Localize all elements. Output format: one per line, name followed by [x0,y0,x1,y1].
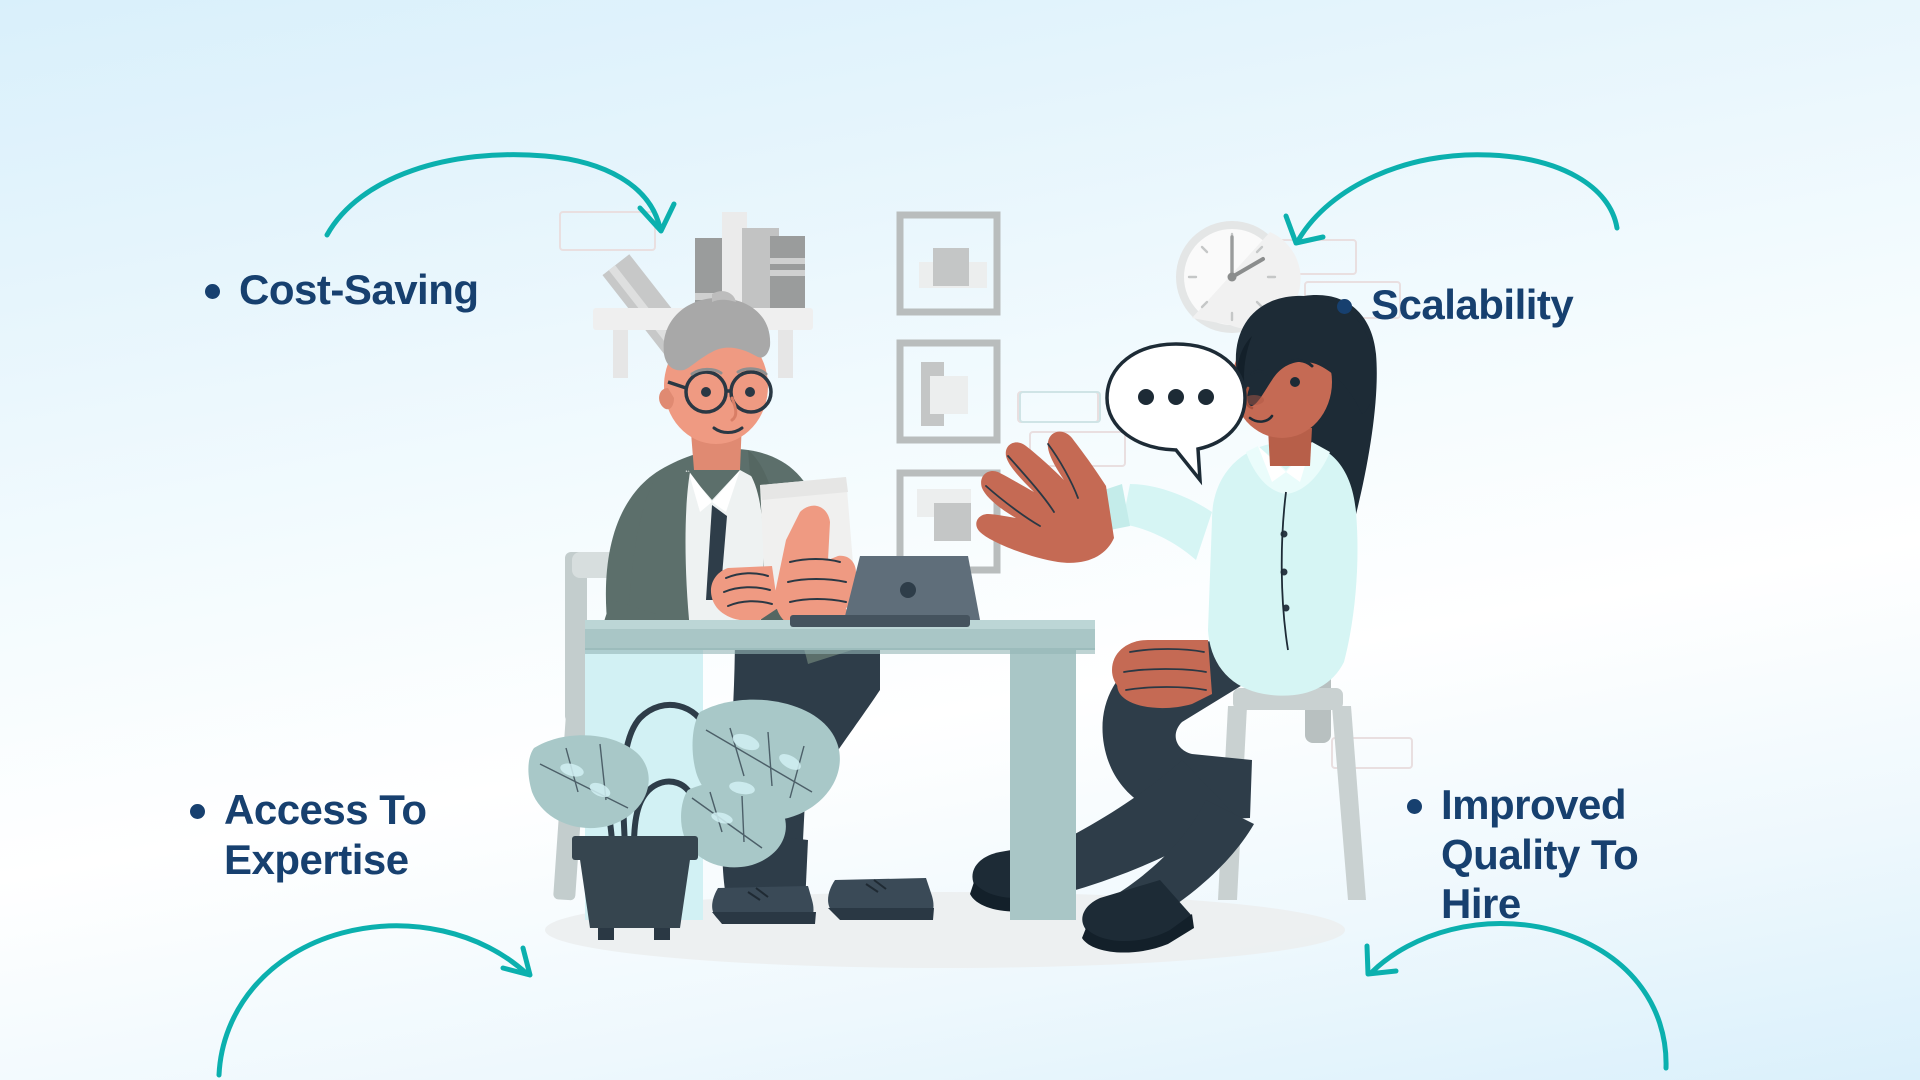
label-improved-quality-to-hire[interactable]: Improved Quality To Hire [1407,780,1727,929]
bullet-icon [190,804,205,819]
bullet-icon [205,284,220,299]
label-scalability[interactable]: Scalability [1337,280,1573,330]
label-line-3: Hire [1441,879,1638,929]
bullet-icon [1337,299,1352,314]
label-line-1: Improved [1441,780,1638,830]
label-line-1: Access To [224,785,427,835]
bullet-icon [1407,799,1422,814]
label-cost-saving[interactable]: Cost-Saving [205,265,479,315]
label-improved-quality-to-hire-text: Improved Quality To Hire [1441,780,1638,929]
arrow-top-right [1286,155,1617,243]
label-access-to-expertise-text: Access To Expertise [224,785,427,884]
label-scalability-text: Scalability [1371,280,1573,330]
label-line-2: Quality To [1441,830,1638,880]
arrow-top-left [327,155,674,235]
infographic-canvas: Cost-Saving Scalability Access To Expert… [0,0,1920,1080]
arrow-bottom-right [1367,923,1666,1068]
label-cost-saving-text: Cost-Saving [239,265,479,315]
arrow-bottom-left [219,926,530,1075]
label-line-2: Expertise [224,835,427,885]
label-access-to-expertise[interactable]: Access To Expertise [190,785,510,884]
